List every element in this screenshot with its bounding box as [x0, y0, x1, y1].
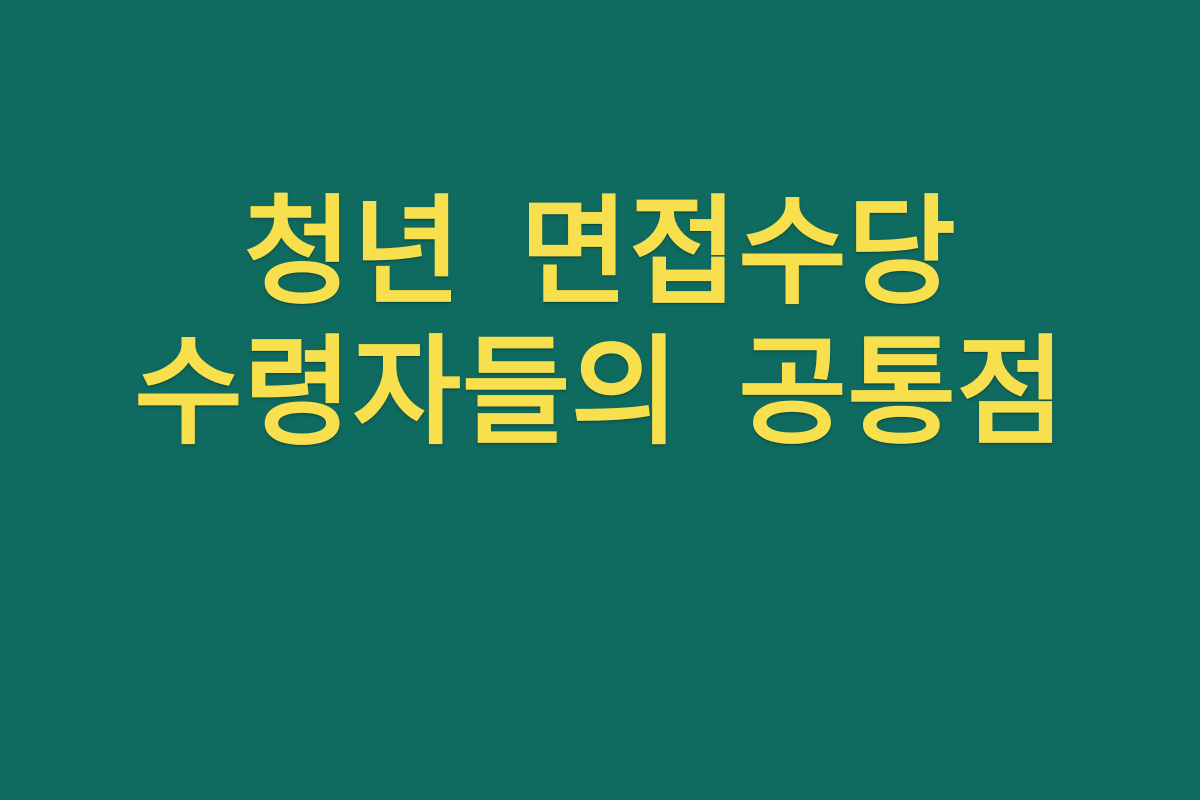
page-title: 청년 면접수당 수령자들의 공통점	[95, 182, 1105, 462]
title-card-canvas: 청년 면접수당 수령자들의 공통점	[0, 0, 1200, 800]
